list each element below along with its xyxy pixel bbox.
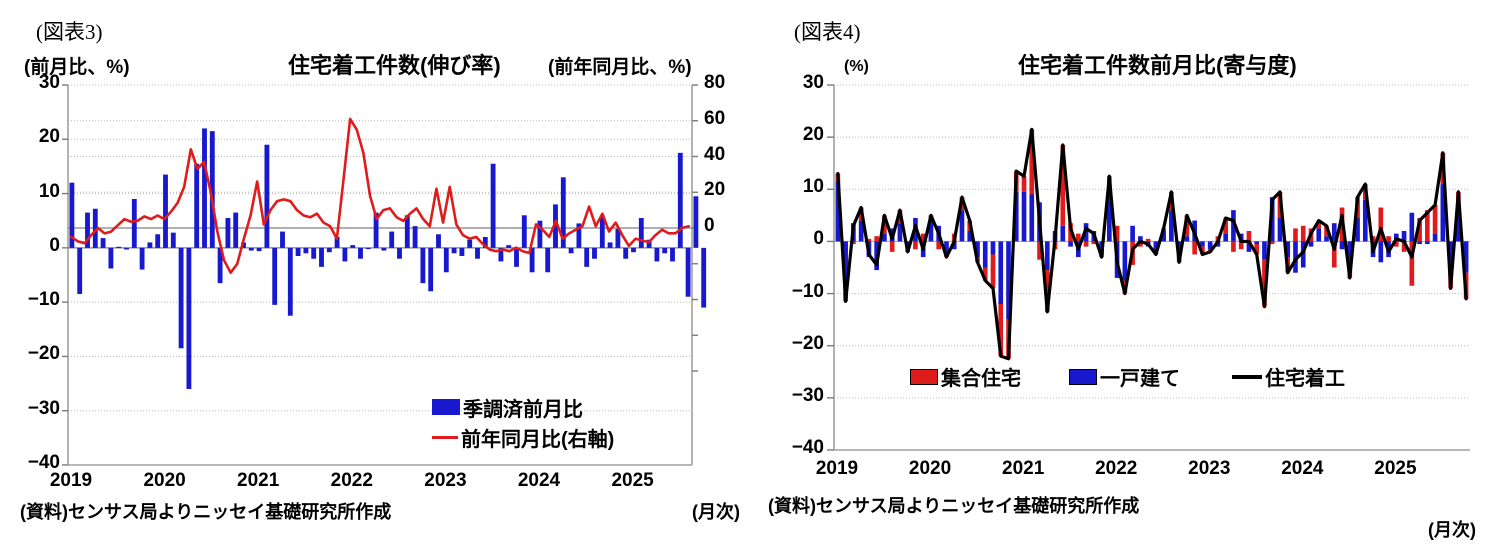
bar-seasonally-adjusted-mom: [233, 213, 238, 248]
bar-seasonally-adjusted-mom: [225, 218, 230, 248]
figure-3-ytick--30: −30: [16, 398, 60, 420]
legend-line-swatch-icon: [432, 436, 458, 439]
figure-4-legend: 集合住宅一戸建て住宅着工: [910, 362, 1345, 391]
bar-seasonally-adjusted-mom: [116, 247, 121, 248]
figure-3-xtick-2021: 2021: [233, 470, 283, 492]
figure-4-xtick-2020: 2020: [905, 458, 955, 480]
figure-3-xtick-2025: 2025: [608, 470, 658, 492]
figure-3-ytick-0: 0: [16, 235, 60, 257]
bar-seasonally-adjusted-mom: [389, 232, 394, 248]
figure-4-legend-label: 住宅着工: [1265, 362, 1345, 391]
bar-multifamily: [1084, 241, 1089, 246]
bar-seasonally-adjusted-mom: [491, 164, 496, 248]
bar-multifamily: [1433, 205, 1438, 234]
bar-detached-house: [1316, 228, 1321, 241]
figure-3-ytick--10: −10: [16, 289, 60, 311]
bar-seasonally-adjusted-mom: [147, 242, 152, 247]
bar-detached-house: [1123, 241, 1128, 280]
figure-3-ytick-30: 30: [16, 72, 60, 94]
figure-3-xtick-2019: 2019: [46, 470, 96, 492]
figure-4-ytick-10: 10: [774, 176, 824, 198]
bar-detached-house: [1262, 241, 1267, 259]
figure-4-ytick-30: 30: [774, 72, 824, 94]
bar-seasonally-adjusted-mom: [194, 164, 199, 248]
bar-seasonally-adjusted-mom: [202, 128, 207, 247]
bar-seasonally-adjusted-mom: [420, 248, 425, 283]
bar-seasonally-adjusted-mom: [163, 175, 168, 248]
bar-seasonally-adjusted-mom: [654, 248, 659, 262]
bar-seasonally-adjusted-mom: [350, 245, 355, 248]
bar-seasonally-adjusted-mom: [686, 248, 691, 297]
figure-4-monthly-note: (月次): [1428, 516, 1476, 542]
figure-4-ytick--30: −30: [774, 385, 824, 407]
figure-3-xtick-2022: 2022: [327, 470, 377, 492]
figure-4-legend-item-multifamily: 集合住宅: [910, 362, 1021, 391]
figure-3-y2tick-60: 60: [704, 108, 725, 130]
bar-seasonally-adjusted-mom: [280, 232, 285, 248]
bar-detached-house: [983, 241, 988, 267]
bar-seasonally-adjusted-mom: [366, 248, 371, 249]
figure-4-xtick-2023: 2023: [1184, 458, 1234, 480]
bar-detached-house: [1068, 241, 1073, 246]
bar-detached-house: [998, 241, 1003, 304]
bar-seasonally-adjusted-mom: [108, 248, 113, 269]
bar-seasonally-adjusted-mom: [327, 248, 332, 252]
bar-seasonally-adjusted-mom: [428, 248, 433, 291]
bar-seasonally-adjusted-mom: [452, 248, 457, 253]
bar-seasonally-adjusted-mom: [101, 238, 106, 248]
figure-3-monthly-note: (月次): [692, 498, 740, 524]
figure-4-source: (資料)センサス局よりニッセイ基礎研究所作成: [768, 492, 1139, 518]
bar-detached-house: [1223, 234, 1228, 242]
bar-seasonally-adjusted-mom: [358, 248, 363, 259]
bar-multifamily: [874, 236, 879, 241]
bar-detached-house: [1324, 236, 1329, 241]
figure-3-ytick-10: 10: [16, 181, 60, 203]
bar-seasonally-adjusted-mom: [467, 240, 472, 248]
legend-line-swatch-icon: [1232, 375, 1262, 379]
figure-3-legend-item-line: 前年同月比(右軸): [432, 422, 614, 452]
figure-4-panel: (図表4) (%) 住宅着工件数前月比(寄与度) (資料)センサス局よりニッセイ…: [760, 0, 1507, 550]
bar-seasonally-adjusted-mom: [171, 233, 176, 248]
bar-detached-house: [1378, 241, 1383, 262]
bar-seasonally-adjusted-mom: [693, 196, 698, 248]
bar-seasonally-adjusted-mom: [623, 248, 628, 259]
bar-seasonally-adjusted-mom: [319, 248, 324, 267]
figure-3-y2tick-80: 80: [704, 72, 725, 94]
bar-seasonally-adjusted-mom: [592, 248, 597, 259]
figure-4-ytick-0: 0: [774, 228, 824, 250]
figure-3-legend: 季調済前月比前年同月比(右軸): [432, 392, 614, 452]
bar-seasonally-adjusted-mom: [413, 226, 418, 248]
figure-4-legend-label: 集合住宅: [941, 362, 1021, 391]
bar-seasonally-adjusted-mom: [397, 248, 402, 259]
bar-seasonally-adjusted-mom: [569, 248, 574, 253]
bar-seasonally-adjusted-mom: [155, 234, 160, 248]
bar-seasonally-adjusted-mom: [179, 248, 184, 348]
bar-multifamily: [1386, 236, 1391, 241]
bar-multifamily: [913, 241, 918, 249]
figure-sheet: (図表3) (前月比、%) 住宅着工件数(伸び率) (前年同月比、%) (資料)…: [0, 0, 1507, 550]
bar-seasonally-adjusted-mom: [608, 242, 613, 247]
figure-3-ytick--20: −20: [16, 343, 60, 365]
bar-seasonally-adjusted-mom: [631, 248, 636, 252]
bar-detached-house: [1045, 241, 1050, 270]
figure-3-bar-series: [69, 128, 706, 389]
figure-4-xtick-2019: 2019: [812, 458, 862, 480]
bar-seasonally-adjusted-mom: [670, 248, 675, 262]
bar-seasonally-adjusted-mom: [257, 248, 262, 251]
bar-seasonally-adjusted-mom: [140, 248, 145, 270]
bar-detached-house: [1433, 234, 1438, 242]
figure-3-y2tick-20: 20: [704, 179, 725, 201]
figure-3-xtick-2023: 2023: [420, 470, 470, 492]
figure-3-legend-label: 前年同月比(右軸): [461, 423, 614, 452]
bar-multifamily: [1231, 241, 1236, 251]
figure-3-plot: [0, 0, 760, 550]
figure-3-xtick-2020: 2020: [140, 470, 190, 492]
legend-bar-swatch-icon: [910, 369, 938, 385]
figure-4-xtick-2024: 2024: [1277, 458, 1327, 480]
bar-seasonally-adjusted-mom: [381, 248, 386, 251]
bar-seasonally-adjusted-mom: [77, 248, 82, 294]
bar-multifamily: [1146, 239, 1151, 242]
figure-3-xtick-2024: 2024: [514, 470, 564, 492]
bar-detached-house: [1130, 226, 1135, 242]
legend-bar-swatch-icon: [1069, 369, 1097, 385]
figure-3-y2tick-40: 40: [704, 144, 725, 166]
figure-3-legend-label: 季調済前月比: [463, 393, 583, 422]
figure-4-ytick--20: −20: [774, 333, 824, 355]
bar-seasonally-adjusted-mom: [342, 248, 347, 262]
figure-4-ytick--40: −40: [774, 437, 824, 459]
bar-detached-house: [1185, 236, 1190, 241]
figure-4-legend-item-detached: 一戸建て: [1069, 362, 1180, 391]
bar-seasonally-adjusted-mom: [249, 248, 254, 251]
bar-multifamily: [1301, 226, 1306, 242]
bar-multifamily: [1022, 176, 1027, 192]
bar-detached-house: [1309, 241, 1314, 246]
bar-detached-house: [1022, 192, 1027, 242]
bar-seasonally-adjusted-mom: [506, 245, 511, 248]
figure-3-legend-item-bar: 季調済前月比: [432, 392, 614, 422]
bar-multifamily: [1293, 228, 1298, 241]
bar-seasonally-adjusted-mom: [288, 248, 293, 316]
bar-seasonally-adjusted-mom: [303, 248, 308, 253]
figure-3-source: (資料)センサス局よりニッセイ基礎研究所作成: [20, 498, 391, 524]
bar-seasonally-adjusted-mom: [701, 248, 706, 308]
line-total-housing-starts: [838, 129, 1466, 358]
bar-multifamily: [890, 241, 895, 251]
legend-bar-swatch-icon: [432, 399, 460, 415]
bar-seasonally-adjusted-mom: [639, 218, 644, 248]
figure-4-legend-label: 一戸建て: [1100, 362, 1180, 391]
bar-seasonally-adjusted-mom: [584, 248, 589, 267]
bar-seasonally-adjusted-mom: [296, 248, 301, 256]
bar-seasonally-adjusted-mom: [522, 215, 527, 248]
bar-seasonally-adjusted-mom: [459, 248, 464, 256]
bar-seasonally-adjusted-mom: [132, 199, 137, 248]
figure-3-y2tick-0: 0: [704, 215, 715, 237]
figure-4-xtick-2022: 2022: [1091, 458, 1141, 480]
bar-seasonally-adjusted-mom: [444, 248, 449, 272]
figure-3-panel: (図表3) (前月比、%) 住宅着工件数(伸び率) (前年同月比、%) (資料)…: [0, 0, 760, 550]
bar-detached-house: [1410, 213, 1415, 242]
bar-seasonally-adjusted-mom: [186, 248, 191, 389]
bar-multifamily: [1076, 234, 1081, 242]
bar-detached-house: [991, 241, 996, 254]
bar-detached-house: [1029, 195, 1034, 242]
figure-4-xtick-2021: 2021: [998, 458, 1048, 480]
bar-detached-house: [1425, 241, 1430, 244]
figure-3-ytick-20: 20: [16, 126, 60, 148]
bar-detached-house: [1340, 241, 1345, 249]
bar-detached-house: [1254, 241, 1259, 244]
bar-seasonally-adjusted-mom: [545, 248, 550, 272]
figure-4-ytick-20: 20: [774, 124, 824, 146]
bar-seasonally-adjusted-mom: [662, 248, 667, 253]
bar-seasonally-adjusted-mom: [124, 248, 129, 250]
figure-4-ytick--10: −10: [774, 281, 824, 303]
bar-seasonally-adjusted-mom: [514, 248, 519, 267]
bar-multifamily: [991, 254, 996, 288]
bar-seasonally-adjusted-mom: [436, 234, 441, 248]
bar-seasonally-adjusted-mom: [678, 153, 683, 248]
bar-seasonally-adjusted-mom: [311, 248, 316, 259]
bar-detached-house: [1060, 226, 1065, 242]
figure-4-xtick-2025: 2025: [1370, 458, 1420, 480]
bar-detached-house: [1417, 241, 1422, 244]
bar-seasonally-adjusted-mom: [264, 145, 269, 248]
bar-seasonally-adjusted-mom: [272, 248, 277, 305]
bar-multifamily: [1192, 241, 1197, 254]
bar-seasonally-adjusted-mom: [475, 248, 480, 259]
figure-4-legend-item-total: 住宅着工: [1232, 362, 1345, 391]
